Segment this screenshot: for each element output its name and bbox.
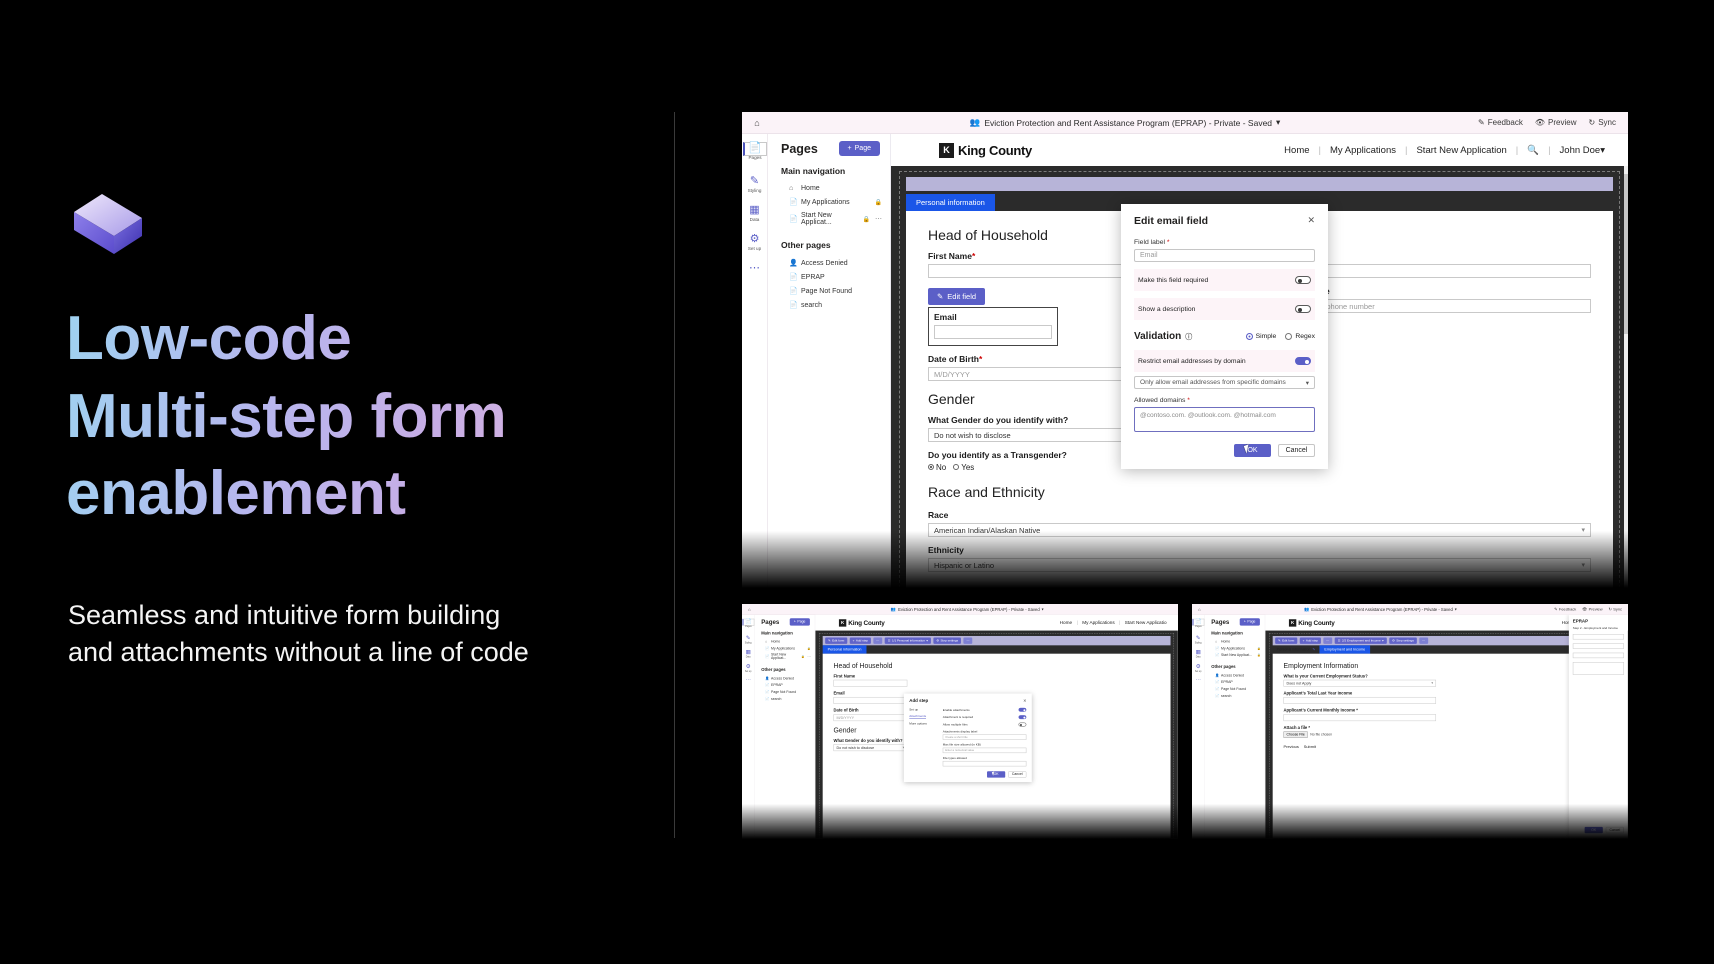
thumb-right-rail: 📄Pages ✎Styling ▦Data ⚙Set up ⋯: [1192, 615, 1205, 838]
sidebar-item-start-new-application[interactable]: 📄 Start New Applicat... 🔒 ⋯: [768, 209, 890, 229]
rail-label-setup: Set up: [748, 246, 761, 251]
close-icon[interactable]: ✕: [1307, 215, 1315, 226]
rail-label-pages: Pages: [748, 155, 761, 160]
rail-item-styling[interactable]: ✎Styling: [1192, 635, 1204, 643]
radio-dot: [1246, 333, 1253, 340]
feedback-button[interactable]: ✎Feedback: [1554, 607, 1576, 611]
more-ellipsis-icon[interactable]: ⋯: [807, 655, 810, 659]
thumbnail-employment-screenshot: ⌂ 👥 Eviction Protection and Rent Assista…: [1192, 604, 1628, 839]
main-screenshot: ⌂ 👥 Eviction Protection and Rent Assista…: [742, 112, 1628, 588]
brush-icon: ✎: [750, 176, 759, 187]
add-step-button[interactable]: +Add step: [850, 637, 871, 643]
thumb-right-form-title: Employment Information: [1284, 662, 1610, 670]
radio-dot: [1285, 333, 1292, 340]
panel-input-3[interactable]: [1573, 653, 1624, 658]
add-page-button[interactable]: +Page: [1240, 618, 1260, 625]
setup-icon: ⚙: [746, 664, 751, 669]
thumb-left-section-title: Head of Household: [834, 662, 1160, 670]
page-small-icon: 📄: [1215, 646, 1218, 650]
add-step-dialog-body: Set up Attachments More options Enable a…: [909, 708, 1026, 767]
edit-email-field-dialog: Edit email field ✕ Field label * Email M…: [1121, 204, 1328, 469]
rail-item-styling[interactable]: ✎ Styling: [743, 176, 767, 193]
ellipsis-icon: ⋯: [876, 639, 879, 642]
group-title-main-navigation: Main navigation: [768, 166, 890, 182]
sidebar-item-start-new-application[interactable]: 📄Start New Applicat...🔒: [1205, 652, 1265, 659]
thumb-left-site-title: 👥 Eviction Protection and Rent Assistanc…: [757, 606, 1178, 611]
radio-simple[interactable]: Simple: [1246, 333, 1277, 340]
thumb-left-input-first-name[interactable]: [834, 680, 908, 687]
nav-home[interactable]: Home: [1275, 145, 1318, 156]
add-step-dialog-header: Add step ✕: [909, 698, 1026, 703]
thumb-left-body: 📄 Pages ✎ Styling ▦ Data ⚙ Set up: [742, 615, 1178, 838]
validation-title-text: Validation: [1134, 331, 1181, 342]
page-icon: 📄: [748, 143, 762, 154]
step-settings-button[interactable]: ⚙Step settings: [1389, 637, 1417, 643]
preview-eye-icon: 👁: [1535, 118, 1545, 127]
command-overflow-button-2[interactable]: ⋯: [964, 637, 973, 643]
close-icon[interactable]: ✕: [1023, 698, 1026, 702]
page-broken-icon: 📄: [765, 690, 768, 694]
info-circle-icon[interactable]: ⓘ: [1185, 332, 1192, 342]
validation-title: Validation ⓘ: [1134, 331, 1192, 342]
radio-regex[interactable]: Regex: [1285, 333, 1315, 340]
page-title: Low-code Multi-step form enablement: [66, 300, 666, 533]
sidebar-label: Access Denied: [1221, 674, 1261, 677]
more-ellipsis-icon: ⋯: [749, 263, 760, 274]
group-title-main-navigation: Main navigation: [755, 631, 815, 639]
page-broken-icon: 📄: [789, 287, 796, 295]
thumb-left-site-header: K King County Home | My Applications | S…: [815, 615, 1178, 631]
toggle-enable-attachments[interactable]: [1019, 708, 1027, 712]
rail-item-more[interactable]: ⋯: [743, 263, 767, 274]
toggle-restrict-by-domain[interactable]: [1295, 357, 1311, 365]
canvas-scrollbar-thumb[interactable]: [1624, 174, 1628, 334]
sync-button[interactable]: ↻ Sync: [1589, 118, 1617, 127]
rail-item-pages[interactable]: 📄Pages: [1192, 619, 1204, 626]
add-page-label: Page: [1247, 620, 1255, 623]
feedback-icon: ✎: [1554, 607, 1557, 611]
rail-label-data: Data: [746, 656, 751, 658]
nav-start-new-application[interactable]: Start New Applicatio: [1120, 620, 1171, 625]
page-icon: 📄: [745, 619, 752, 624]
select-domain-rule-value: Only allow email addresses from specific…: [1140, 379, 1286, 386]
panel-input-4[interactable]: [1573, 662, 1624, 675]
king-county-crest-icon: K: [939, 143, 954, 158]
step-settings-label: Step settings: [941, 639, 959, 642]
command-overflow-button[interactable]: ⋯: [873, 637, 882, 643]
thumb-left-pages-panel: Pages + Page Main navigation ⌂Home 📄My A…: [755, 615, 816, 838]
radio-label-yes: Yes: [961, 463, 974, 472]
rail-item-setup[interactable]: ⚙Set up: [1192, 664, 1204, 672]
people-site-icon: 👥: [1304, 606, 1309, 611]
site-title-label: Eviction Protection and Rent Assistance …: [984, 118, 1272, 128]
radio-label-simple: Simple: [1256, 333, 1277, 340]
home-small-icon: ⌂: [1215, 640, 1218, 643]
step-tab-personal-label: Personal information: [1277, 647, 1311, 651]
input-field-label[interactable]: Email: [1134, 249, 1315, 262]
user-menu[interactable]: John Doe▾: [1551, 145, 1614, 156]
thumb-left-gender-select[interactable]: Do not wish to disclose ▾: [834, 744, 908, 751]
left-rail: 📄 Pages ✎ Styling ▦ Data ⚙ Set up ⋯: [742, 134, 768, 588]
preview-label: Preview: [1589, 607, 1603, 611]
sidebar-item-my-applications[interactable]: 📄 My Applications 🔒: [768, 195, 890, 209]
input-file-types[interactable]: [943, 761, 1027, 766]
thumb-right-actions: ✎Feedback 👁Preview ↻Sync: [1554, 607, 1628, 611]
people-site-icon: 👥: [970, 117, 981, 128]
pencil-icon: ✎: [937, 292, 943, 301]
choose-file-button[interactable]: Choose File: [1284, 731, 1308, 737]
plus-icon: +: [853, 639, 855, 642]
page-small-icon: 📄: [789, 215, 796, 223]
setup-icon: ⚙: [750, 234, 760, 245]
chevron-down-icon: ▾: [1306, 379, 1309, 387]
edit-form-label: Edit form: [1282, 639, 1294, 642]
tab-attachments[interactable]: Attachments: [909, 715, 926, 719]
sidebar-label: My Applications: [1221, 647, 1255, 650]
ok-button[interactable]: OK: [1234, 444, 1271, 457]
sync-button[interactable]: ↻Sync: [1608, 607, 1622, 611]
thumb-left-rail: 📄 Pages ✎ Styling ▦ Data ⚙ Set up: [742, 615, 755, 838]
headline-line-3: enablement: [66, 455, 666, 533]
select-ethnicity-value: Hispanic or Latino: [934, 561, 994, 570]
vertical-divider: [674, 112, 675, 838]
rail-label-setup: Set up: [745, 670, 752, 672]
input-email[interactable]: [934, 325, 1052, 339]
mouse-pointer-icon: [1244, 444, 1251, 453]
toggle-show-description[interactable]: [1295, 305, 1311, 313]
select-domain-rule[interactable]: Only allow email addresses from specific…: [1134, 376, 1315, 389]
thumb-right-pages-header: Pages +Page: [1205, 618, 1265, 625]
dialog-buttons: OK Cancel: [1134, 444, 1315, 457]
sync-label: Sync: [1613, 607, 1622, 611]
preview-label: Preview: [1548, 118, 1576, 127]
sidebar-item-access-denied[interactable]: 👤 Access Denied: [768, 256, 890, 270]
label-email: Email: [934, 312, 1052, 322]
slide-root: Low-code Multi-step form enablement Seam…: [0, 0, 1714, 964]
radio-dot: [953, 464, 959, 470]
toggle-label-restrict-domain: Restrict email addresses by domain: [1138, 358, 1246, 365]
nav-my-applications[interactable]: My Applications: [1078, 620, 1119, 625]
toggle-attachment-required[interactable]: [1019, 715, 1027, 719]
page-small-icon: 📄: [765, 655, 768, 659]
toggle-row-description: Show a description: [1134, 298, 1315, 320]
step-selector[interactable]: ☰2/2 Employment and Income▾: [1335, 637, 1387, 643]
select-employment-status[interactable]: Does not Apply ▾: [1284, 680, 1437, 687]
textarea-allowed-domains[interactable]: @contoso.com. @outlook.com. @hotmail.com: [1134, 407, 1315, 432]
thumb-left-title-text: Eviction Protection and Rent Assistance …: [898, 607, 1040, 612]
sidebar-item-eprap[interactable]: 📄 EPRAP: [768, 270, 890, 284]
validation-section-header: Validation ⓘ Simple Regex: [1134, 331, 1315, 342]
sidebar-item-page-not-found[interactable]: 📄 Page Not Found: [768, 284, 890, 298]
feedback-icon: ✎: [1478, 118, 1485, 127]
pencil-icon: ✎: [1312, 647, 1315, 651]
rail-label-pages: Pages: [1195, 625, 1201, 627]
step-tab-personal-information[interactable]: Personal information ✎: [1273, 645, 1320, 653]
sync-icon: ↻: [1589, 118, 1596, 127]
preview-button[interactable]: 👁Preview: [1582, 607, 1602, 611]
sidebar-label: EPRAP: [1221, 681, 1261, 684]
step-icon: ☰: [888, 639, 891, 642]
plus-icon: +: [848, 145, 852, 152]
rail-label-pages: Pages: [745, 625, 751, 627]
pages-title: Pages: [761, 619, 779, 626]
headline-line-1: Low-code: [66, 300, 666, 378]
radio-option-no[interactable]: No: [928, 463, 946, 472]
label-allowed-domains-text: Allowed domains: [1134, 397, 1185, 404]
add-step-ok-button[interactable]: OK: [987, 771, 1005, 777]
nav-start-new-application[interactable]: Start New Application: [1407, 145, 1515, 156]
brush-icon: ✎: [1196, 635, 1201, 640]
chevron-down-icon: ▾: [1581, 561, 1585, 569]
group-title-other-pages: Other pages: [768, 229, 890, 256]
rail-item-data[interactable]: ▦ Data: [743, 205, 767, 222]
thumbnail-add-step-screenshot: ⌂ 👥 Eviction Protection and Rent Assista…: [742, 604, 1178, 839]
sidebar-label: Access Denied: [771, 677, 811, 680]
sidebar-item-access-denied[interactable]: 👤Access Denied: [755, 675, 815, 682]
sidebar-label: My Applications: [771, 647, 805, 650]
sidebar-label: Home: [771, 640, 811, 643]
add-page-button[interactable]: + Page: [790, 618, 810, 625]
lock-icon: 🔒: [801, 655, 805, 658]
step-tab-employment-and-income[interactable]: Employment and Income: [1319, 645, 1370, 653]
sidebar-item-start-new-application[interactable]: 📄Start New Applicat...🔒⋯: [755, 652, 815, 662]
sidebar-label: Page Not Found: [771, 690, 811, 693]
step-tab-personal-information[interactable]: Personal information: [906, 194, 995, 211]
more-ellipsis-icon[interactable]: ⋯: [875, 215, 882, 223]
page-small-icon: 📄: [765, 697, 768, 701]
label-allowed-domains: Allowed domains *: [1134, 397, 1315, 404]
toggle-label-enable-attachments: Enable attachments: [943, 708, 970, 711]
home-small-icon: ⌂: [789, 185, 796, 192]
feedback-label: Feedback: [1559, 607, 1576, 611]
add-step-button[interactable]: +Add step: [1300, 637, 1321, 643]
dialog-header: Edit email field ✕: [1134, 215, 1315, 227]
thumb-left-step-tabs: Personal information: [823, 645, 1171, 653]
add-page-label: Page: [797, 620, 805, 623]
cancel-button[interactable]: Cancel: [1278, 444, 1315, 457]
home-icon[interactable]: ⌂: [742, 118, 772, 128]
select-ethnicity[interactable]: Hispanic or Latino ▾: [928, 558, 1591, 572]
page-icon: 📄: [1195, 619, 1202, 624]
more-ellipsis-icon: ⋯: [1195, 678, 1200, 683]
select-race[interactable]: American Indian/Alaskan Native ▾: [928, 523, 1591, 537]
input-monthly-income[interactable]: [1284, 714, 1437, 721]
toggle-row-required: Make this field required: [1134, 269, 1315, 291]
sidebar-item-search[interactable]: 📄search: [1205, 693, 1265, 700]
table-icon: ▦: [749, 205, 759, 216]
input-last-year-income[interactable]: [1284, 697, 1437, 704]
command-bar-placeholder: [906, 177, 1613, 191]
site-nav: Home | My Applications | Start New Appli…: [1275, 145, 1614, 156]
rail-item-styling[interactable]: ✎ Styling: [742, 635, 754, 643]
home-icon[interactable]: ⌂: [742, 607, 757, 612]
dialog-title: Edit email field: [1134, 215, 1208, 227]
rail-item-setup[interactable]: ⚙ Set up: [743, 234, 767, 251]
sidebar-label-home: Home: [801, 185, 882, 192]
input-max-file-size[interactable]: Enter a numerical value: [943, 748, 1027, 753]
add-page-label: Page: [855, 145, 871, 152]
thumb-left-command-bar: ✎Edit form +Add step ⋯ ☰1/1 Personal inf…: [823, 636, 1171, 645]
panel-input-2[interactable]: [1573, 643, 1624, 648]
group-title-main-navigation: Main navigation: [1205, 631, 1265, 639]
race-ethnicity-block: Race American Indian/Alaskan Native ▾ Et…: [928, 510, 1591, 572]
label-max-file-size: Max file size allowed (in KB): [943, 743, 1027, 746]
edit-form-button[interactable]: ✎Edit form: [825, 637, 847, 643]
nav-home[interactable]: Home: [1055, 620, 1076, 625]
lock-icon: 🔒: [1257, 647, 1261, 650]
thumb-left-input-dob[interactable]: M/D/YYYY: [834, 714, 908, 721]
label-last-year-income: Applicant's Total Last Year Income: [1284, 691, 1610, 696]
thumb-right-topbar: ⌂ 👥 Eviction Protection and Rent Assista…: [1192, 604, 1628, 615]
panel-cancel-button[interactable]: Cancel: [1606, 827, 1624, 833]
lock-icon: 🔒: [1257, 653, 1261, 656]
thumbnail-right-scaler: ⌂ 👥 Eviction Protection and Rent Assista…: [1192, 604, 1628, 839]
headline-line-2: Multi-step form: [66, 378, 666, 456]
edit-form-button[interactable]: ✎Edit form: [1275, 637, 1297, 643]
feedback-label: Feedback: [1488, 118, 1523, 127]
page-small-icon: 📄: [789, 198, 796, 206]
rail-label-styling: Styling: [745, 641, 752, 643]
rail-item-more[interactable]: ⋯: [742, 678, 754, 683]
radio-option-yes[interactable]: Yes: [953, 463, 974, 472]
panel-subtitle: Step 2 - Employment and Income: [1573, 627, 1624, 630]
nav-my-applications[interactable]: My Applications: [1321, 145, 1405, 156]
subheadline: Seamless and intuitive form building and…: [68, 597, 538, 672]
add-step-tabs: Set up Attachments More options: [909, 708, 938, 767]
select-race-value: American Indian/Alaskan Native: [934, 526, 1040, 535]
thumb-left-topbar: ⌂ 👥 Eviction Protection and Rent Assista…: [742, 604, 1178, 615]
home-icon[interactable]: ⌂: [1192, 607, 1207, 612]
toggle-label-allow-multiple: Allow multiple files: [943, 723, 968, 726]
rail-label-data: Data: [750, 217, 760, 222]
panel-ok-button[interactable]: OK: [1585, 827, 1603, 833]
thumb-right-site-title: 👥 Eviction Protection and Rent Assistanc…: [1207, 606, 1554, 611]
people-site-icon: 👥: [891, 606, 896, 611]
pages-title: Pages: [1211, 619, 1229, 626]
sidebar-label-access-denied: Access Denied: [801, 260, 882, 267]
rail-item-setup[interactable]: ⚙ Set up: [742, 664, 754, 672]
edit-form-icon: ✎: [1278, 639, 1281, 642]
toggle-row-restrict-domain: Restrict email addresses by domain: [1134, 350, 1315, 372]
rail-item-data[interactable]: ▦Data: [1192, 650, 1204, 658]
edit-field-label: Edit field: [947, 292, 976, 301]
group-title-other-pages: Other pages: [755, 662, 815, 675]
home-small-icon: ⌂: [765, 640, 768, 643]
preview-button[interactable]: 👁 Preview: [1535, 118, 1577, 127]
tab-set-up[interactable]: Set up: [909, 708, 938, 711]
step-settings-label: Step settings: [1396, 639, 1414, 642]
sidebar-label: search: [1221, 694, 1261, 697]
tab-more-options[interactable]: More options: [909, 722, 938, 725]
site-brand: King County: [1298, 619, 1334, 626]
group-title-other-pages: Other pages: [1205, 659, 1265, 672]
sidebar-item-my-applications[interactable]: 📄My Applications🔒: [755, 645, 815, 652]
toggle-make-field-required[interactable]: [1295, 276, 1311, 284]
select-employment-status-value: Does not Apply: [1286, 681, 1311, 685]
brush-icon: ✎: [746, 635, 751, 640]
add-step-cancel-button[interactable]: Cancel: [1008, 771, 1026, 777]
sidebar-label-search: search: [801, 302, 882, 309]
rail-item-more[interactable]: ⋯: [1192, 678, 1204, 683]
more-ellipsis-icon: ⋯: [745, 678, 750, 683]
step-tab-personal-information[interactable]: Personal information: [823, 645, 867, 653]
page-small-icon: 📄: [789, 273, 796, 281]
sidebar-item-home[interactable]: ⌂ Home: [768, 182, 890, 195]
step-settings-button[interactable]: ⚙Step settings: [933, 637, 961, 643]
command-overflow-button[interactable]: ⋯: [1323, 637, 1332, 643]
sidebar-item-page-not-found[interactable]: 📄Page Not Found: [755, 689, 815, 696]
sidebar-item-access-denied[interactable]: 👤Access Denied: [1205, 672, 1265, 679]
search-icon[interactable]: 🔍: [1518, 145, 1548, 156]
person-page-icon: 👤: [789, 259, 796, 267]
sidebar-item-eprap[interactable]: 📄EPRAP: [755, 682, 815, 689]
sidebar-item-eprap[interactable]: 📄EPRAP: [1205, 679, 1265, 686]
sidebar-item-page-not-found[interactable]: 📄Page Not Found: [1205, 686, 1265, 693]
previous-button[interactable]: Previous: [1284, 745, 1299, 749]
step-properties-panel: EPRAP Step 2 - Employment and Income OK …: [1569, 615, 1628, 838]
rail-item-data[interactable]: ▦ Data: [742, 650, 754, 658]
step-icon: ☰: [1338, 639, 1341, 642]
toggle-allow-multiple-files[interactable]: [1019, 723, 1027, 727]
chevron-down-icon: ▾: [1455, 606, 1457, 611]
add-step-label: Add step: [856, 639, 868, 642]
panel-input-1[interactable]: [1573, 634, 1624, 639]
person-page-icon: 👤: [765, 676, 768, 680]
step-selector-label: 1/1 Personal information: [892, 639, 925, 642]
add-page-button[interactable]: + Page: [839, 141, 880, 156]
site-nav: Home | My Applications | Start New Appli…: [1055, 620, 1171, 625]
required-asterisk: *: [1165, 239, 1170, 246]
table-icon: ▦: [746, 650, 751, 655]
page-small-icon: 📄: [1215, 694, 1218, 698]
power-pages-logo: [68, 192, 148, 262]
command-overflow-button-2[interactable]: ⋯: [1419, 637, 1428, 643]
required-asterisk: *: [1185, 397, 1190, 404]
sidebar-item-search[interactable]: 📄 search: [768, 298, 890, 312]
setup-icon: ⚙: [1196, 664, 1201, 669]
add-step-label: Add step: [1306, 639, 1318, 642]
rail-item-pages[interactable]: 📄 Pages: [742, 619, 754, 626]
thumb-left-gender-value: Do not wish to disclose: [836, 745, 874, 749]
input-attachments-display[interactable]: Create a short title: [943, 734, 1027, 739]
sync-label: Sync: [1598, 118, 1616, 127]
validation-mode-radios: Simple Regex: [1246, 333, 1315, 340]
rail-label-styling: Styling: [1195, 641, 1202, 643]
pages-title: Pages: [781, 142, 818, 156]
editor-body: 📄 Pages ✎ Styling ▦ Data ⚙ Set up ⋯: [742, 134, 1628, 588]
label-field-label-text: Field label: [1134, 239, 1165, 246]
page-small-icon: 📄: [1215, 653, 1218, 657]
editor-topbar: ⌂ 👥 Eviction Protection and Rent Assista…: [742, 112, 1628, 134]
site-logo: K King County: [939, 143, 1032, 158]
chevron-down-icon[interactable]: ▾: [1276, 117, 1280, 128]
page-small-icon: 📄: [1215, 680, 1218, 684]
sidebar-label: Page Not Found: [1221, 687, 1261, 690]
rail-item-pages[interactable]: 📄 Pages: [743, 142, 767, 156]
rail-label-data: Data: [1196, 656, 1201, 658]
site-title[interactable]: 👥 Eviction Protection and Rent Assistanc…: [772, 117, 1478, 128]
submit-button[interactable]: Submit: [1304, 745, 1316, 749]
plus-icon: +: [794, 620, 796, 623]
sidebar-item-my-applications[interactable]: 📄My Applications🔒: [1205, 645, 1265, 652]
sync-icon: ↻: [1608, 607, 1611, 611]
feedback-button[interactable]: ✎ Feedback: [1478, 118, 1523, 127]
form-footer-buttons: Previous Submit: [1284, 745, 1610, 749]
thumb-left-input-email[interactable]: [834, 697, 908, 704]
step-selector[interactable]: ☰1/1 Personal information▾: [885, 637, 931, 643]
edit-field-button[interactable]: ✎ Edit field: [928, 288, 985, 305]
sidebar-item-search[interactable]: 📄search: [755, 696, 815, 703]
